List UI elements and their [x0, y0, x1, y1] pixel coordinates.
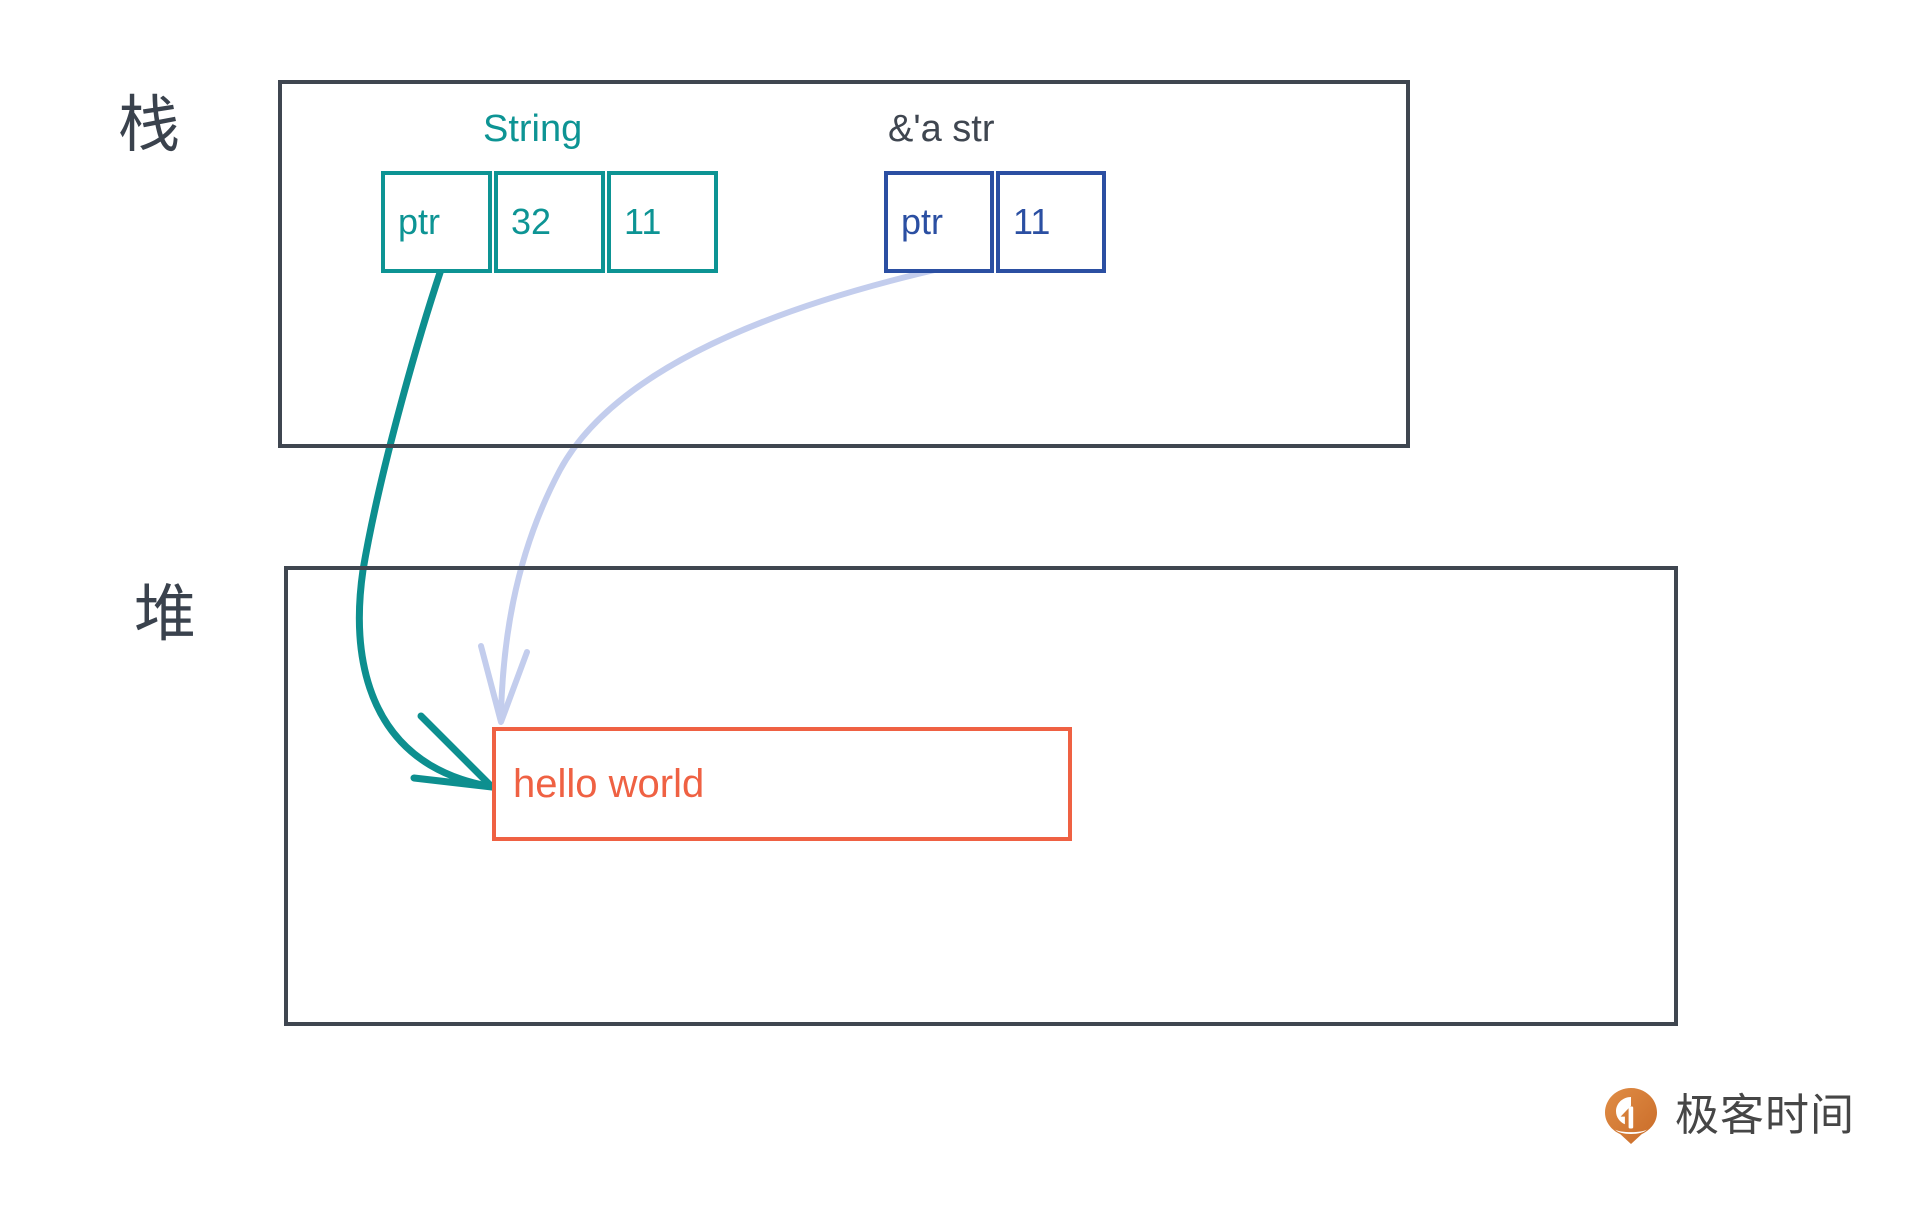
string-cell-length: 11 [607, 171, 718, 273]
geektime-pin-icon [1603, 1086, 1659, 1146]
string-struct-cells: ptr 32 11 [381, 171, 718, 273]
str-cell-ptr: ptr [884, 171, 994, 273]
brand-name: 极客时间 [1675, 1094, 1855, 1138]
string-cell-capacity: 32 [494, 171, 605, 273]
heap-value-box: hello world [492, 727, 1072, 841]
string-struct-title: String [483, 110, 582, 148]
brand-watermark: 极客时间 [1603, 1086, 1855, 1146]
heap-value-text: hello world [513, 764, 704, 804]
heap-region-label: 堆 [134, 583, 196, 645]
str-cell-length: 11 [996, 171, 1106, 273]
str-slice-struct-title: &'a str [888, 110, 995, 148]
stack-region-label: 栈 [118, 94, 180, 156]
str-slice-struct-cells: ptr 11 [884, 171, 1106, 273]
string-cell-ptr: ptr [381, 171, 492, 273]
